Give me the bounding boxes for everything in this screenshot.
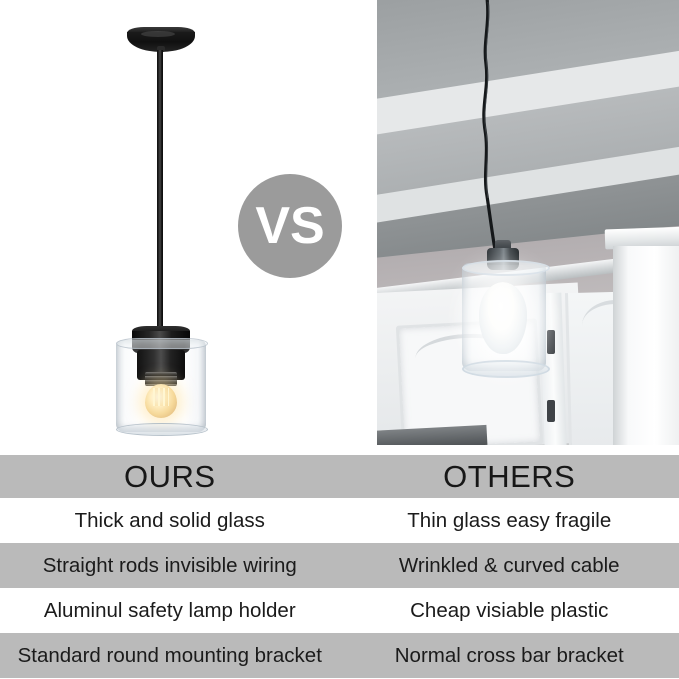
comparison-image-root: VS OURS (0, 0, 679, 679)
feature-others: Normal cross bar bracket (340, 633, 679, 678)
table-row: Thick and solid glass Thin glass easy fr… (0, 498, 679, 543)
bright-bulb (479, 282, 527, 354)
cabinet-column-right (613, 246, 679, 445)
column-header-others: OTHERS (340, 455, 679, 498)
cabinet-hinge-lower (547, 400, 555, 422)
column-header-ours: OURS (0, 455, 340, 498)
thin-glass-bottom-rim (462, 360, 550, 378)
cabinet-hinge-upper (547, 330, 555, 354)
feature-ours: Thick and solid glass (0, 498, 340, 543)
feature-ours: Straight rods invisible wiring (0, 543, 340, 588)
wrinkled-cable-icon (465, 0, 505, 250)
feature-ours: Standard round mounting bracket (0, 633, 340, 678)
bulb-filament (153, 388, 169, 406)
canopy-highlight (141, 31, 175, 37)
vs-badge-label: VS (255, 200, 324, 252)
straight-rod (157, 50, 163, 332)
table-row: Standard round mounting bracket Normal c… (0, 633, 679, 678)
photo-table-divider (0, 445, 679, 455)
glass-shade-bottom-rim (116, 423, 208, 436)
vs-badge: VS (238, 174, 342, 278)
feature-others: Thin glass easy fragile (340, 498, 679, 543)
feature-ours: Aluminul safety lamp holder (0, 588, 340, 633)
table-row: Aluminul safety lamp holder Cheap visiab… (0, 588, 679, 633)
table-row: Straight rods invisible wiring Wrinkled … (0, 543, 679, 588)
feature-others: Wrinkled & curved cable (340, 543, 679, 588)
others-product-photo (377, 0, 679, 445)
comparison-table: OURS OTHERS Thick and solid glass Thin g… (0, 455, 679, 679)
thin-glass-top-rim (462, 260, 550, 276)
feature-others: Cheap visiable plastic (340, 588, 679, 633)
table-header-row: OURS OTHERS (0, 455, 679, 498)
glass-shade-top-rim (116, 338, 208, 349)
